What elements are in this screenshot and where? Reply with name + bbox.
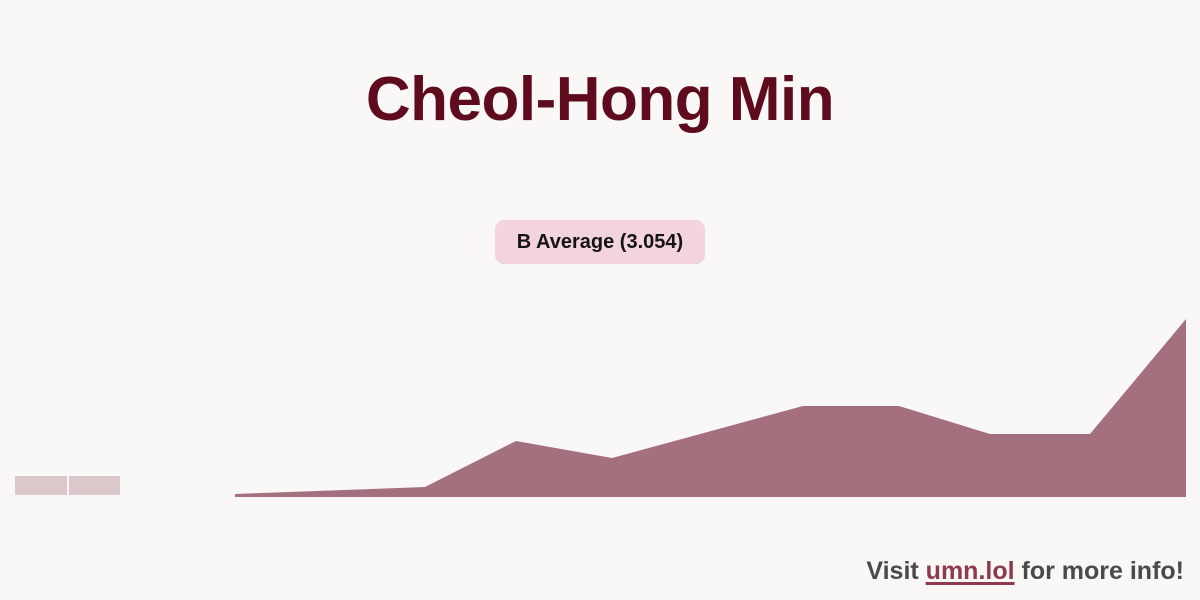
gpa-average-badge: B Average (3.054) <box>495 220 705 264</box>
footer-suffix: for more info! <box>1015 557 1184 585</box>
area-series-grade-trend <box>235 319 1186 497</box>
swatch-segment-1 <box>15 476 67 495</box>
grade-distribution-swatches <box>15 476 120 495</box>
footer-prefix: Visit <box>866 557 925 585</box>
footer-link-umn-lol[interactable]: umn.lol <box>926 557 1015 585</box>
footer-note: Visit umn.lol for more info! <box>866 557 1184 586</box>
badge-row: B Average (3.054) <box>0 220 1200 264</box>
swatch-segment-2 <box>69 476 120 495</box>
page-root: Cheol-Hong Min B Average (3.054) Visit u… <box>0 0 1200 600</box>
page-title: Cheol-Hong Min <box>0 66 1200 134</box>
